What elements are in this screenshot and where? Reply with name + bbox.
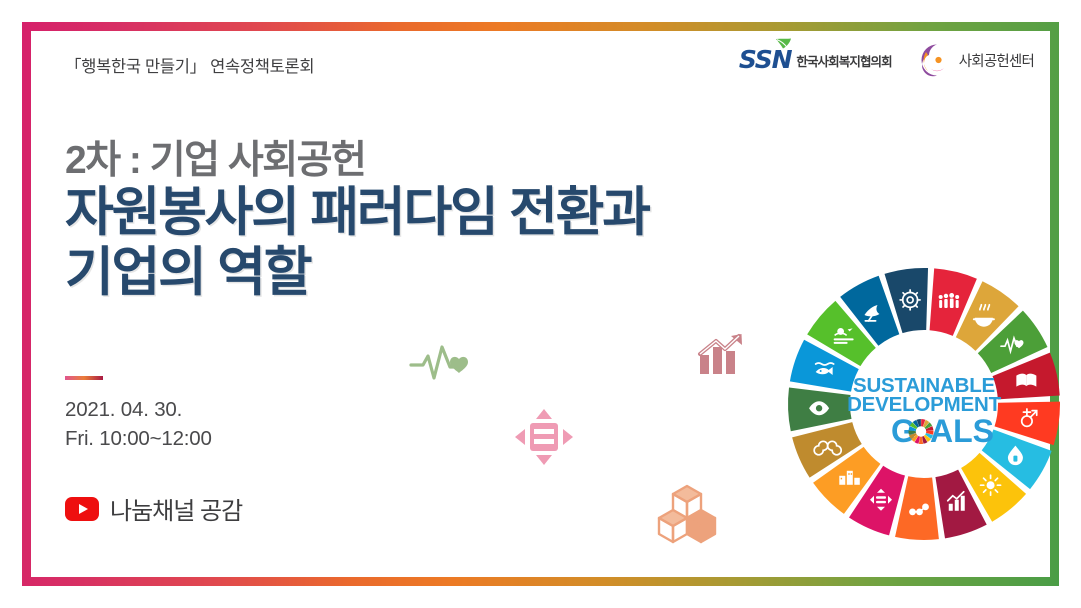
heartbeat-pulse-icon	[409, 343, 475, 385]
gradient-frame: 「행복한국 만들기」 연속정책토론회 SSN 한국사회복지협의회	[22, 22, 1059, 586]
sdg-wheel-svg: SUSTAINABLE DEVELOPMENT G ALS	[779, 259, 1069, 549]
ssn-name: 한국사회복지협의회	[796, 51, 891, 70]
affordable-energy-sun-icon	[981, 475, 1001, 495]
title-block: 2차 : 기업 사회공헌 자원봉사의 패러다임 전환과 기업의 역할	[65, 139, 649, 302]
csc-logo: 사회공헌센터	[920, 43, 1034, 77]
event-date: 2021. 04. 30.	[65, 395, 242, 424]
expand-arrows-icon	[513, 407, 575, 467]
meta-divider	[65, 376, 103, 380]
csc-name: 사회공헌센터	[959, 50, 1034, 71]
play-triangle-icon	[79, 504, 88, 514]
sdg-center-goals-als: ALS	[930, 413, 994, 449]
isometric-cubes-icon	[655, 483, 719, 545]
poster-content: 「행복한국 만들기」 연속정책토론회 SSN 한국사회복지협의회	[31, 31, 1050, 577]
ssn-wordmark: SSN	[739, 45, 791, 74]
youtube-icon[interactable]	[65, 497, 99, 521]
page-title-line1: 자원봉사의 패러다임 전환과	[65, 183, 649, 243]
quality-education-book-icon	[1016, 374, 1036, 387]
csc-swirl-icon	[920, 43, 954, 77]
event-time: Fri. 10:00~12:00	[65, 424, 242, 453]
logo-group: SSN 한국사회복지협의회	[739, 43, 1034, 77]
session-subtitle: 2차 : 기업 사회공헌	[65, 139, 649, 183]
page-title-line2: 기업의 역할	[65, 243, 649, 303]
ssn-wordmark-wrap: SSN	[739, 47, 791, 73]
channel-name: 나눔채널 공감	[110, 491, 242, 526]
sdg-wheel: SUSTAINABLE DEVELOPMENT G ALS	[779, 259, 1069, 549]
broadcast-channel[interactable]: 나눔채널 공감	[65, 491, 242, 526]
ssn-logo: SSN 한국사회복지협의회	[739, 47, 892, 73]
bar-chart-growth-icon	[697, 333, 745, 377]
leaf-icon	[775, 38, 792, 49]
poster-canvas: 「행복한국 만들기」 연속정책토론회 SSN 한국사회복지협의회	[0, 0, 1081, 608]
eyebrow-text: 「행복한국 만들기」 연속정책토론회	[65, 53, 314, 77]
event-meta: 2021. 04. 30. Fri. 10:00~12:00 나눔채널 공감	[65, 376, 242, 526]
